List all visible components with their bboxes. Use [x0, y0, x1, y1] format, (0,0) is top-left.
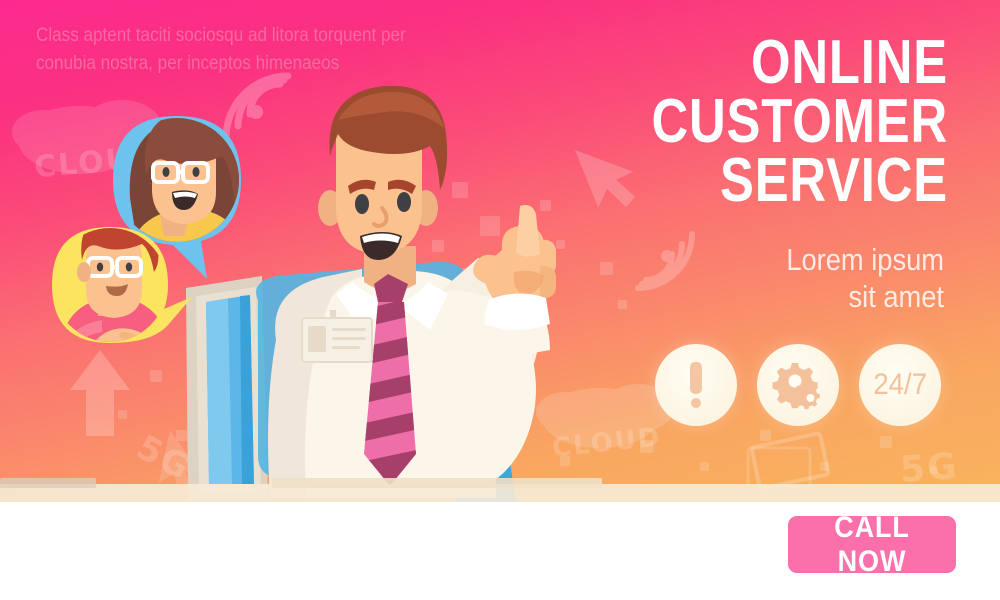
subtitle-line-1: Lorem ipsum — [786, 242, 944, 277]
footer-line-1: Class aptent taciti sociosqu ad litora t… — [36, 25, 406, 46]
page-subtitle: Lorem ipsum sit amet — [574, 242, 944, 315]
headline-line-1: ONLINE CUSTOMER — [651, 28, 948, 156]
footer-line-2: conubia nostra, per inceptos himenaeos — [36, 50, 423, 78]
online-customer-service-banner: CLOUD 5G CLOUD 5G — [0, 0, 1000, 600]
desk-surface — [0, 478, 1000, 502]
feature-circle-settings[interactable] — [757, 344, 839, 426]
headline-line-2: SERVICE — [440, 152, 948, 211]
footer-description: Class aptent taciti sociosqu ad litora t… — [36, 22, 423, 77]
feature-icon-row: 24/7 — [655, 344, 941, 426]
computer-monitor — [186, 276, 268, 500]
exclamation-icon — [690, 362, 702, 408]
name-badge — [302, 310, 372, 362]
feature-circle-247[interactable]: 24/7 — [859, 344, 941, 426]
subtitle-line-2: sit amet — [574, 279, 944, 316]
page-title: ONLINE CUSTOMER SERVICE — [440, 34, 948, 211]
call-now-label: CALL NOW — [796, 511, 947, 579]
gears-icon — [770, 359, 826, 411]
feature-circle-alert[interactable] — [655, 344, 737, 426]
twenty-four-seven-icon: 24/7 — [873, 368, 927, 402]
call-now-button[interactable]: CALL NOW — [788, 516, 956, 573]
agent-head — [318, 86, 447, 260]
